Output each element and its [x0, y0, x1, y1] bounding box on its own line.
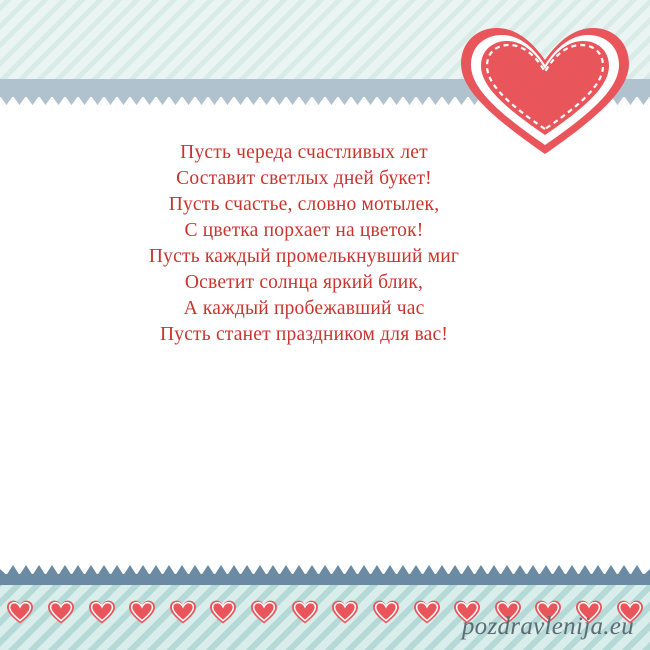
poem-line: Осветит солнца яркий блик,	[0, 270, 608, 296]
heart-icon	[47, 599, 75, 625]
heart-icon	[291, 599, 319, 625]
poem-line: Пусть станет праздником для вас!	[0, 322, 608, 348]
poem-text-block: Пусть череда счастливых лет Составит све…	[0, 140, 650, 348]
heart-icon	[169, 599, 197, 625]
poem-line: Пусть счастье, словно мотылек,	[0, 192, 608, 218]
heart-icon	[128, 599, 156, 625]
heart-icon	[209, 599, 237, 625]
heart-icon	[372, 599, 400, 625]
poem-line: С цветка порхает на цветок!	[0, 218, 608, 244]
bottom-border: pozdravlenija.eu	[0, 565, 650, 650]
poem-line: Составит светлых дней букет!	[0, 166, 608, 192]
poem-line: А каждый пробежавший час	[0, 296, 608, 322]
greeting-card: Пусть череда счастливых лет Составит све…	[0, 0, 650, 650]
poem-line: Пусть череда счастливых лет	[0, 140, 608, 166]
poem-line: Пусть каждый промелькнувший миг	[0, 244, 608, 270]
heart-icon	[413, 599, 441, 625]
bottom-slate-band	[0, 574, 650, 585]
heart-icon	[88, 599, 116, 625]
heart-icon	[250, 599, 278, 625]
watermark: pozdravlenija.eu	[462, 613, 634, 641]
heart-icon	[331, 599, 359, 625]
heart-icon	[6, 599, 34, 625]
